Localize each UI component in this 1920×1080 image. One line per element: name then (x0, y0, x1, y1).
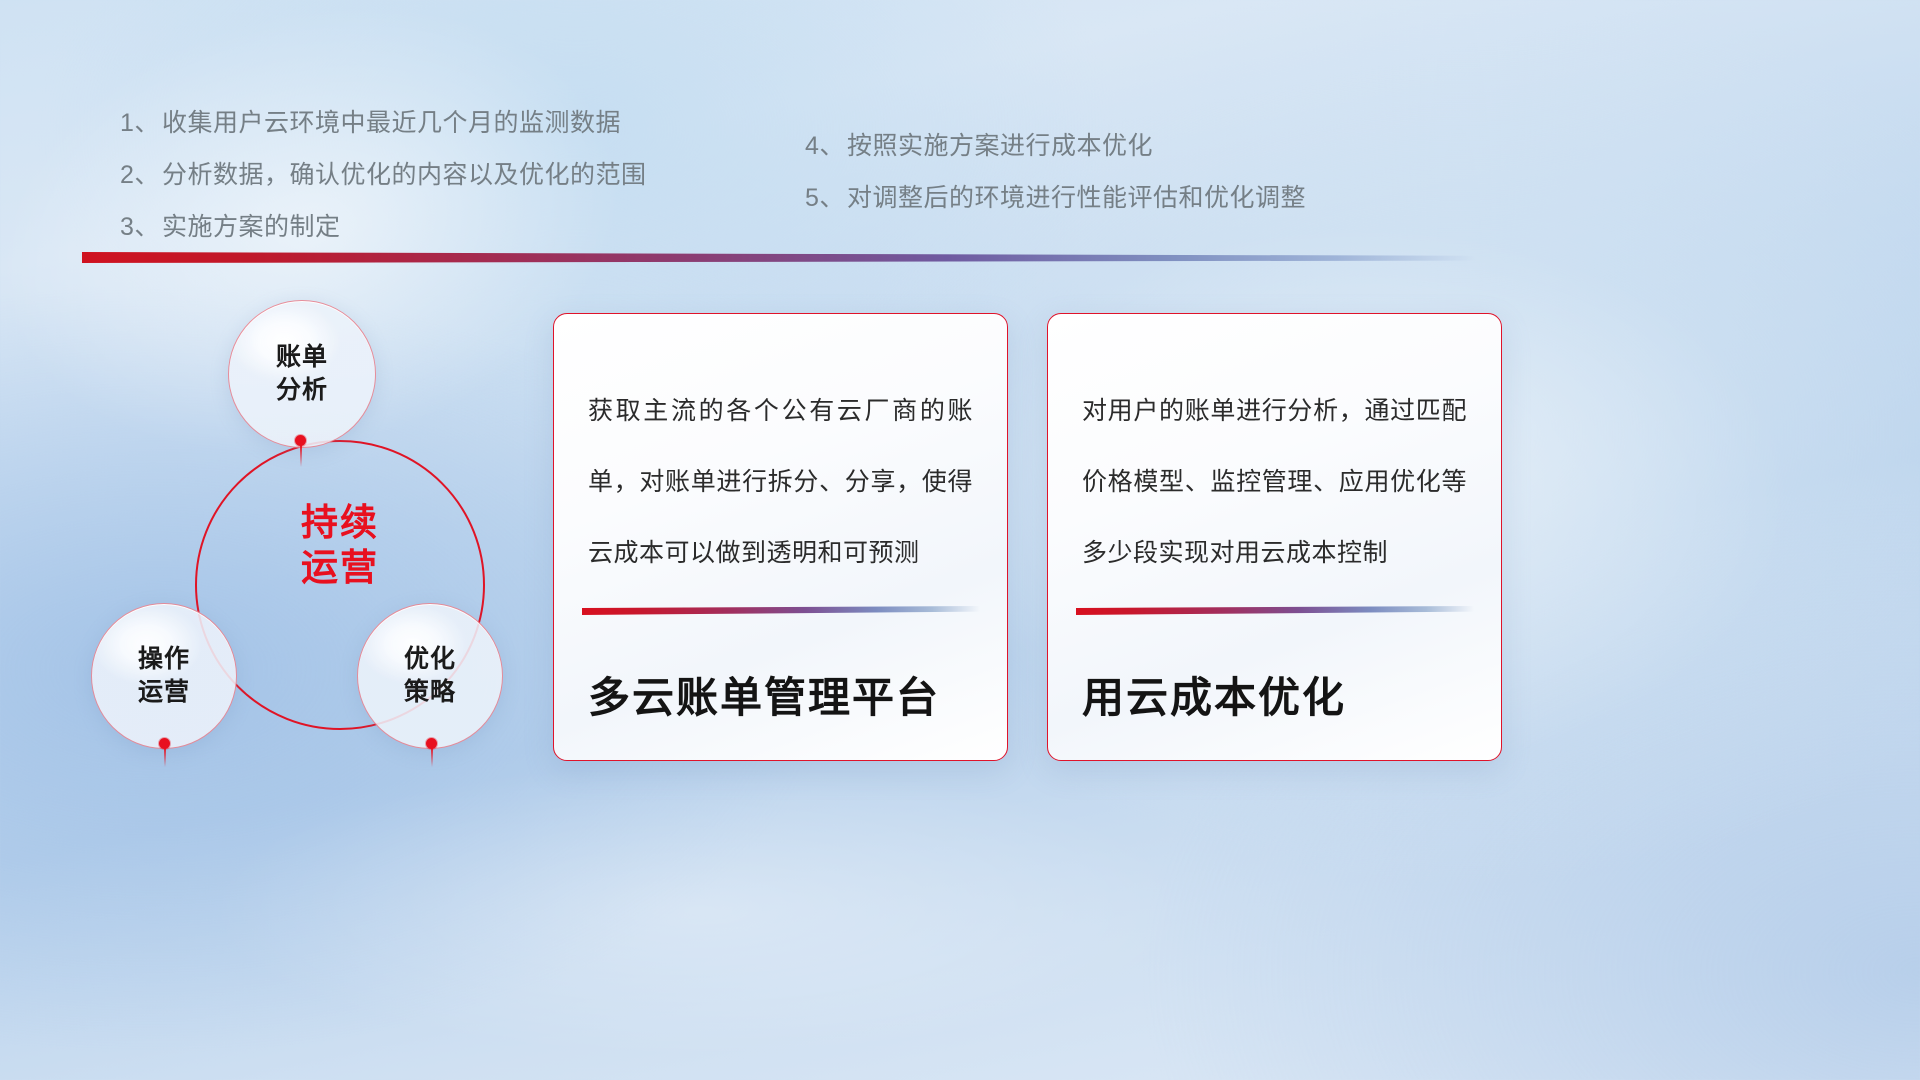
list-item-text: 分析数据，确认优化的内容以及优化的范围 (162, 149, 647, 201)
list-item-number: 5、 (805, 172, 847, 224)
bubble-label-line2: 策略 (404, 676, 456, 709)
card-multi-cloud-bill-platform[interactable]: 获取主流的各个公有云厂商的账单，对账单进行拆分、分享，使得云成本可以做到透明和可… (553, 313, 1008, 761)
continuous-operation-diagram: 持续 运营 账单 分析 操作 运营 优化 策略 (85, 295, 535, 765)
card-accent-bar (1076, 606, 1474, 615)
bubble-label-line2: 运营 (138, 676, 190, 709)
list-item: 5、 对调整后的环境进行性能评估和优化调整 (805, 172, 1505, 224)
card-cloud-cost-optimization[interactable]: 对用户的账单进行分析，通过匹配价格模型、监控管理、应用优化等多少段实现对用云成本… (1047, 313, 1502, 761)
list-item-number: 4、 (805, 120, 847, 172)
card-accent-bar (582, 606, 980, 615)
divider-gradient-bar (82, 252, 1476, 263)
list-item-text: 收集用户云环境中最近几个月的监测数据 (162, 97, 621, 149)
list-item-text: 实施方案的制定 (162, 201, 341, 253)
list-item-number: 1、 (120, 97, 162, 149)
diagram-dot-left (159, 738, 170, 749)
diagram-center-label-line2: 运营 (260, 545, 420, 590)
step-list-left: 1、 收集用户云环境中最近几个月的监测数据 2、 分析数据，确认优化的内容以及优… (120, 97, 760, 253)
diagram-bubble-operation-ops[interactable]: 操作 运营 (91, 603, 237, 749)
card-body-text: 获取主流的各个公有云厂商的账单，对账单进行拆分、分享，使得云成本可以做到透明和可… (588, 376, 973, 589)
diagram-dot-top (295, 435, 306, 446)
list-item: 3、 实施方案的制定 (120, 201, 760, 253)
bubble-label-line2: 分析 (276, 374, 328, 407)
bubble-label-line1: 账单 (276, 341, 328, 374)
list-item: 2、 分析数据，确认优化的内容以及优化的范围 (120, 149, 760, 201)
card-body-text: 对用户的账单进行分析，通过匹配价格模型、监控管理、应用优化等多少段实现对用云成本… (1082, 376, 1467, 589)
diagram-stem-left (164, 747, 166, 767)
bubble-label-line1: 优化 (404, 643, 456, 676)
list-item-number: 3、 (120, 201, 162, 253)
diagram-bubble-bill-analysis[interactable]: 账单 分析 (228, 300, 376, 448)
diagram-bubble-optimization-policy[interactable]: 优化 策略 (357, 603, 503, 749)
diagram-center-label: 持续 运营 (260, 500, 420, 590)
list-item-text: 按照实施方案进行成本优化 (847, 120, 1153, 172)
diagram-stem-top (300, 445, 302, 467)
bubble-label-line1: 操作 (138, 643, 190, 676)
diagram-stem-right (431, 747, 433, 767)
diagram-center-label-line1: 持续 (260, 500, 420, 545)
list-item: 4、 按照实施方案进行成本优化 (805, 120, 1505, 172)
diagram-dot-right (426, 738, 437, 749)
step-list-right: 4、 按照实施方案进行成本优化 5、 对调整后的环境进行性能评估和优化调整 (805, 120, 1505, 224)
section-divider (82, 252, 1476, 263)
list-item: 1、 收集用户云环境中最近几个月的监测数据 (120, 97, 760, 149)
card-title: 用云成本优化 (1082, 664, 1472, 725)
card-title: 多云账单管理平台 (588, 664, 978, 725)
list-item-number: 2、 (120, 149, 162, 201)
list-item-text: 对调整后的环境进行性能评估和优化调整 (847, 172, 1306, 224)
